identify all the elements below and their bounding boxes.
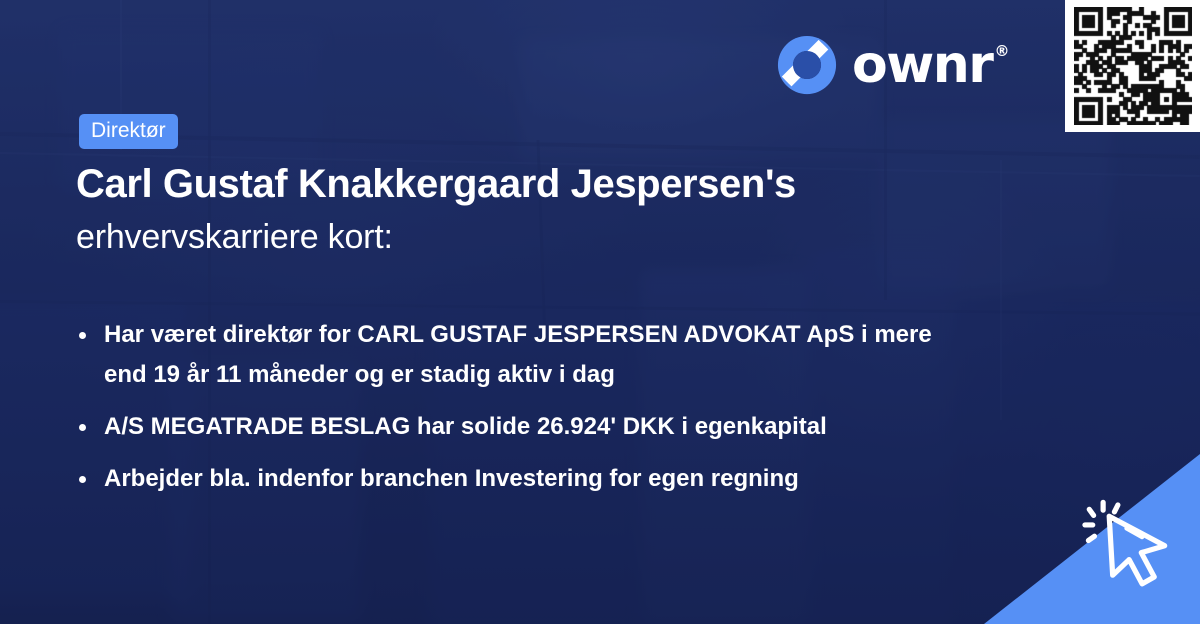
ownr-wordmark-text: ownr: [852, 37, 992, 93]
background-tint-overlay: [0, 0, 1200, 624]
career-fact-item: Arbejder bla. indenfor branchen Invester…: [76, 459, 946, 499]
career-fact-item: Har været direktør for CARL GUSTAF JESPE…: [76, 315, 946, 395]
career-facts-list: Har været direktør for CARL GUSTAF JESPE…: [76, 315, 1036, 499]
bullet-dot-icon: [79, 424, 86, 431]
registered-mark: ®: [994, 41, 1008, 61]
page-subtitle: erhvervskarriere kort:: [76, 214, 976, 260]
ownr-circle-mark: [776, 34, 838, 96]
click-cursor-icon: [1078, 492, 1182, 596]
bullet-dot-icon: [79, 332, 86, 339]
career-card: ownr ® Direktør Carl Gustaf Knakkergaard…: [0, 0, 1200, 624]
role-badge: Direktør: [79, 114, 178, 149]
career-fact-text: A/S MEGATRADE BESLAG har solide 26.924' …: [104, 413, 827, 440]
bullet-dot-icon: [79, 476, 86, 483]
career-fact-text: Arbejder bla. indenfor branchen Invester…: [104, 465, 799, 492]
ownr-wordmark: ownr ®: [852, 37, 1008, 93]
ownr-logo[interactable]: ownr ®: [776, 34, 1008, 96]
page-title: Carl Gustaf Knakkergaard Jespersen's: [76, 159, 1076, 209]
career-fact-text: Har været direktør for CARL GUSTAF JESPE…: [104, 321, 932, 388]
qr-code-panel[interactable]: [1065, 0, 1200, 132]
career-fact-item: A/S MEGATRADE BESLAG har solide 26.924' …: [76, 407, 946, 447]
qr-code[interactable]: [1074, 7, 1192, 125]
